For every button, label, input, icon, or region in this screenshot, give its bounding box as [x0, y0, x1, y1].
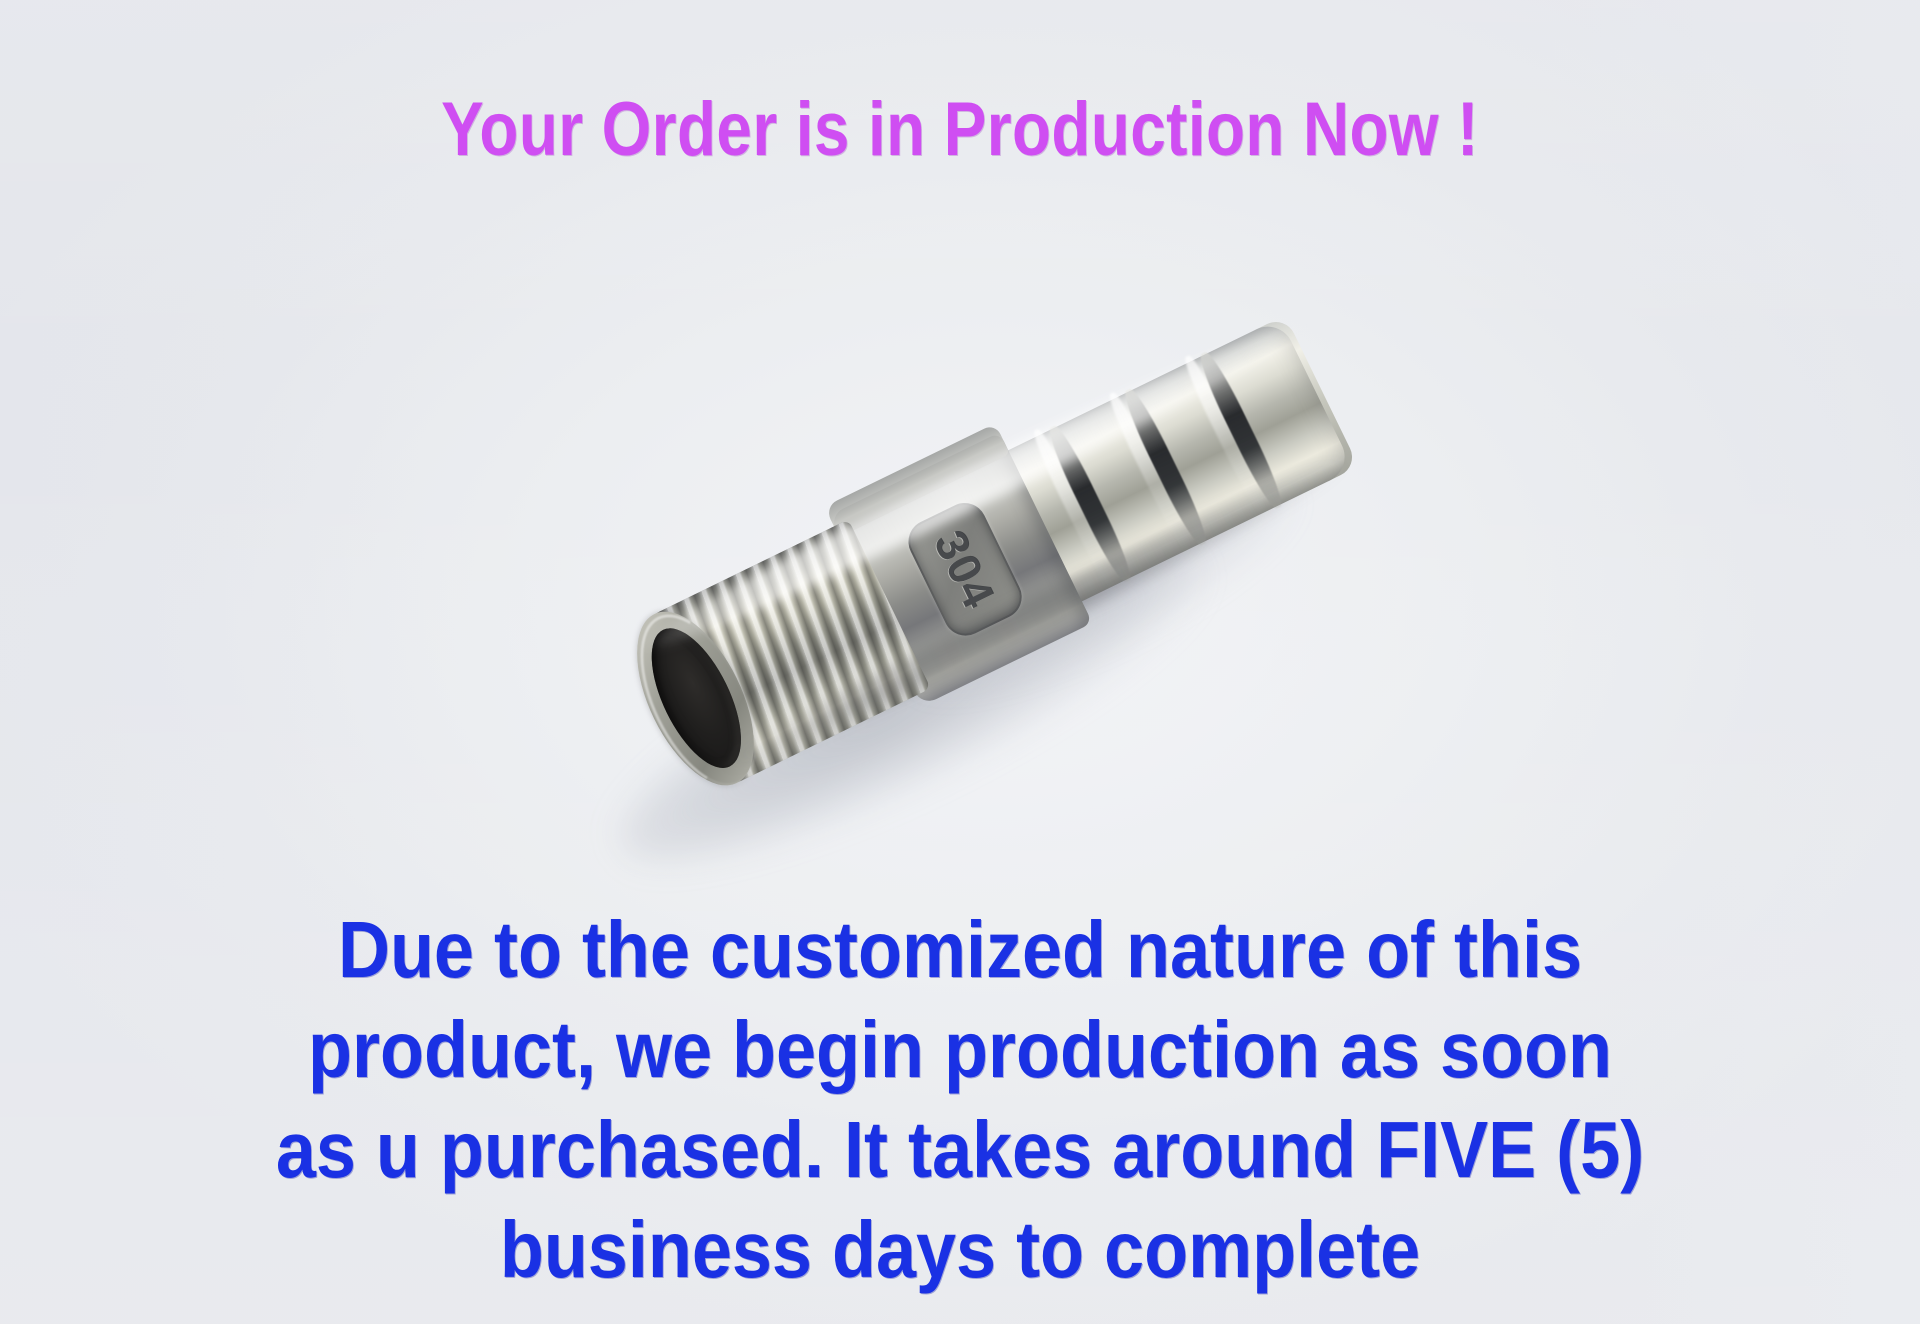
- message-line-4: business days to complete: [96, 1200, 1824, 1300]
- notice-image: 304 Your Order is in Production Now ! Du…: [0, 0, 1920, 1324]
- product-photo: 304: [560, 330, 1400, 870]
- message-line-2: product, we begin production as soon: [96, 1000, 1824, 1100]
- production-notice-message: Due to the customized nature of this pro…: [96, 900, 1824, 1300]
- grade-stamp-text: 304: [923, 522, 1006, 617]
- headline-text: Your Order is in Production Now !: [154, 92, 1767, 168]
- message-line-3: as u purchased. It takes around FIVE (5): [96, 1100, 1824, 1200]
- message-line-1: Due to the customized nature of this: [96, 900, 1824, 1000]
